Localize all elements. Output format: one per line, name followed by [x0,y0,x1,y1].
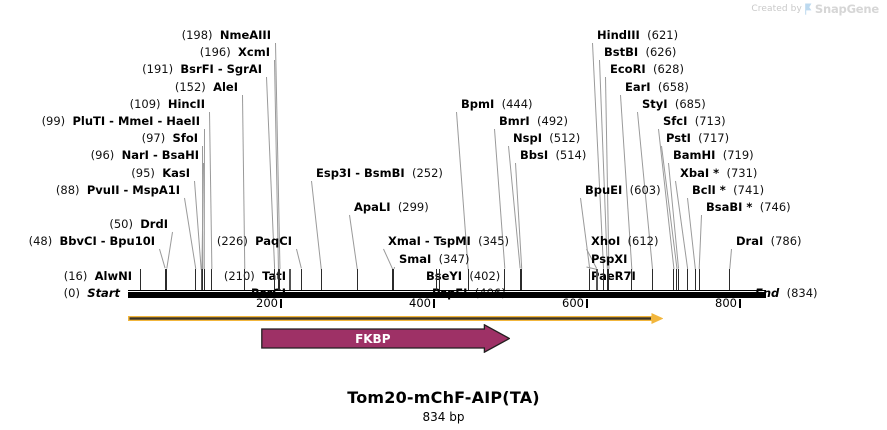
restriction-site-tick[interactable] [274,269,275,291]
restriction-site-label[interactable]: BclI * (741) [692,184,764,197]
restriction-site-label[interactable]: BpuEI (603) [585,184,661,197]
label-leader-line [699,215,702,269]
label-leader-line [383,249,393,269]
title-block: Tom20-mChF-AIP(TA) 834 bp [0,388,887,424]
restriction-site-label[interactable]: BstBI (626) [604,46,676,59]
restriction-site-label[interactable]: DraI (786) [736,235,802,248]
restriction-site-label[interactable]: (88) PvuII - MspA1I [56,184,180,197]
label-leader-line [166,232,173,269]
watermark-created-by: Created by [751,4,802,14]
label-leader-line [349,215,358,269]
restriction-site-label[interactable]: ApaLI (299) [354,201,429,214]
restriction-site-label[interactable]: (16) AlwNI [64,270,132,283]
label-leader-line [296,249,302,269]
restriction-site-tick[interactable] [436,269,437,291]
restriction-site-tick[interactable] [195,269,196,291]
axis-tick-label: 800 [715,296,739,310]
restriction-site-label[interactable]: SmaI (347) [399,253,470,266]
restriction-site-tick[interactable] [504,269,505,291]
restriction-site-label[interactable]: (210) TatI [224,270,286,283]
restriction-site-label[interactable]: (48) BbvCI - Bpu10I [29,235,155,248]
restriction-site-tick[interactable] [687,269,688,291]
restriction-site-label[interactable]: BsaBI * (746) [706,201,791,214]
ruler-hairline [128,290,766,291]
restriction-site-label[interactable]: SfcI (713) [663,115,726,128]
restriction-site-label[interactable]: (198) NmeAIII [182,29,271,42]
watermark-brand: SnapGene [815,2,879,16]
restriction-site-tick[interactable] [673,269,674,291]
axis-tick-label: 200 [256,296,280,310]
restriction-site-label[interactable]: (0) Start [64,287,120,300]
restriction-site-tick[interactable] [729,269,730,291]
restriction-site-tick[interactable] [521,269,522,291]
restriction-site-tick[interactable] [652,269,653,291]
restriction-site-tick[interactable] [140,269,141,291]
restriction-site-tick[interactable] [468,269,469,291]
restriction-site-label[interactable]: (152) AleI [175,81,238,94]
restriction-site-tick[interactable] [439,269,440,291]
label-leader-line [580,198,590,269]
restriction-site-tick[interactable] [321,269,322,291]
restriction-site-tick[interactable] [631,269,632,291]
restriction-site-label[interactable]: NspI (512) [513,132,580,145]
restriction-site-label[interactable]: (191) BsrFI - SgrAI [142,63,262,76]
label-leader-line [184,198,196,269]
restriction-site-label[interactable]: XmaI - TspMI (345) [388,235,509,248]
restriction-site-label[interactable]: (96) NarI - BsaHI [91,149,199,162]
restriction-site-tick[interactable] [699,269,700,291]
restriction-site-label[interactable]: BbsI (514) [520,149,586,162]
restriction-site-tick[interactable] [279,269,280,291]
restriction-site-label[interactable]: (97) SfoI [142,132,198,145]
restriction-site-label[interactable]: BseYI (402) [426,270,500,283]
restriction-site-label[interactable]: XbaI * (731) [680,167,757,180]
restriction-site-label[interactable]: PstI (717) [666,132,729,145]
axis-tick-label: 600 [562,296,586,310]
restriction-site-label[interactable]: BmrI (492) [499,115,568,128]
restriction-site-label[interactable]: StyI (685) [642,98,706,111]
restriction-site-tick[interactable] [676,269,677,291]
label-leader-line [204,129,205,269]
axis-tick [433,299,435,308]
sequence-title: Tom20-mChF-AIP(TA) [0,388,887,407]
restriction-site-tick[interactable] [204,269,205,291]
axis-tick [739,299,741,308]
restriction-site-label[interactable]: BpmI (444) [461,98,533,111]
ruler-bar [128,292,766,298]
restriction-site-tick[interactable] [608,269,609,291]
restriction-site-label[interactable]: HindIII (621) [597,29,678,42]
restriction-site-label[interactable]: Esp3I - BsmBI (252) [316,167,443,180]
restriction-site-tick[interactable] [211,269,212,291]
restriction-site-label[interactable]: EarI (658) [625,81,689,94]
restriction-site-label[interactable]: (99) PluTI - MmeI - HaeII [42,115,200,128]
restriction-site-tick[interactable] [166,269,167,291]
restriction-site-label[interactable]: XhoI (612) [591,235,658,248]
restriction-site-label[interactable]: (95) KasI [131,167,190,180]
label-leader-line [687,198,696,269]
restriction-site-tick[interactable] [202,269,203,291]
restriction-site-label[interactable]: EcoRI (628) [610,63,684,76]
label-leader-line [729,249,732,269]
feature-arrow-fkbp[interactable] [261,324,510,353]
snapgene-logo-icon [805,3,812,15]
restriction-site-tick[interactable] [301,269,302,291]
axis-tick [586,299,588,308]
restriction-site-tick[interactable] [244,269,245,291]
restriction-site-tick[interactable] [393,269,394,291]
label-leader-line [194,181,202,269]
sequence-length: 834 bp [0,410,887,424]
restriction-site-label[interactable]: BamHI (719) [673,149,754,162]
restriction-site-tick[interactable] [596,269,598,291]
restriction-site-tick[interactable] [289,269,291,291]
label-leader-line [159,249,166,269]
restriction-site-label[interactable]: (109) HincII [130,98,205,111]
restriction-site-label[interactable]: (196) XcmI [200,46,270,59]
label-leader-line [209,112,212,269]
restriction-site-tick[interactable] [603,269,604,291]
restriction-site-tick[interactable] [695,269,696,291]
restriction-site-label[interactable]: (50) DrdI [109,218,168,231]
restriction-site-tick[interactable] [678,269,679,291]
restriction-site-tick[interactable] [589,269,590,291]
orf-arrow[interactable] [128,313,663,324]
restriction-site-label[interactable]: (226) PaqCI [217,235,292,248]
snapgene-watermark: Created by SnapGene [751,2,879,16]
axis-tick [280,299,282,308]
restriction-site-tick[interactable] [357,269,358,291]
label-leader-line [311,181,322,270]
sequence-map: Created by SnapGene (0) Start(16) AlwNI(… [0,0,887,430]
restriction-site-label[interactable]: PspXI [591,253,627,266]
axis-tick-label: 400 [409,296,433,310]
